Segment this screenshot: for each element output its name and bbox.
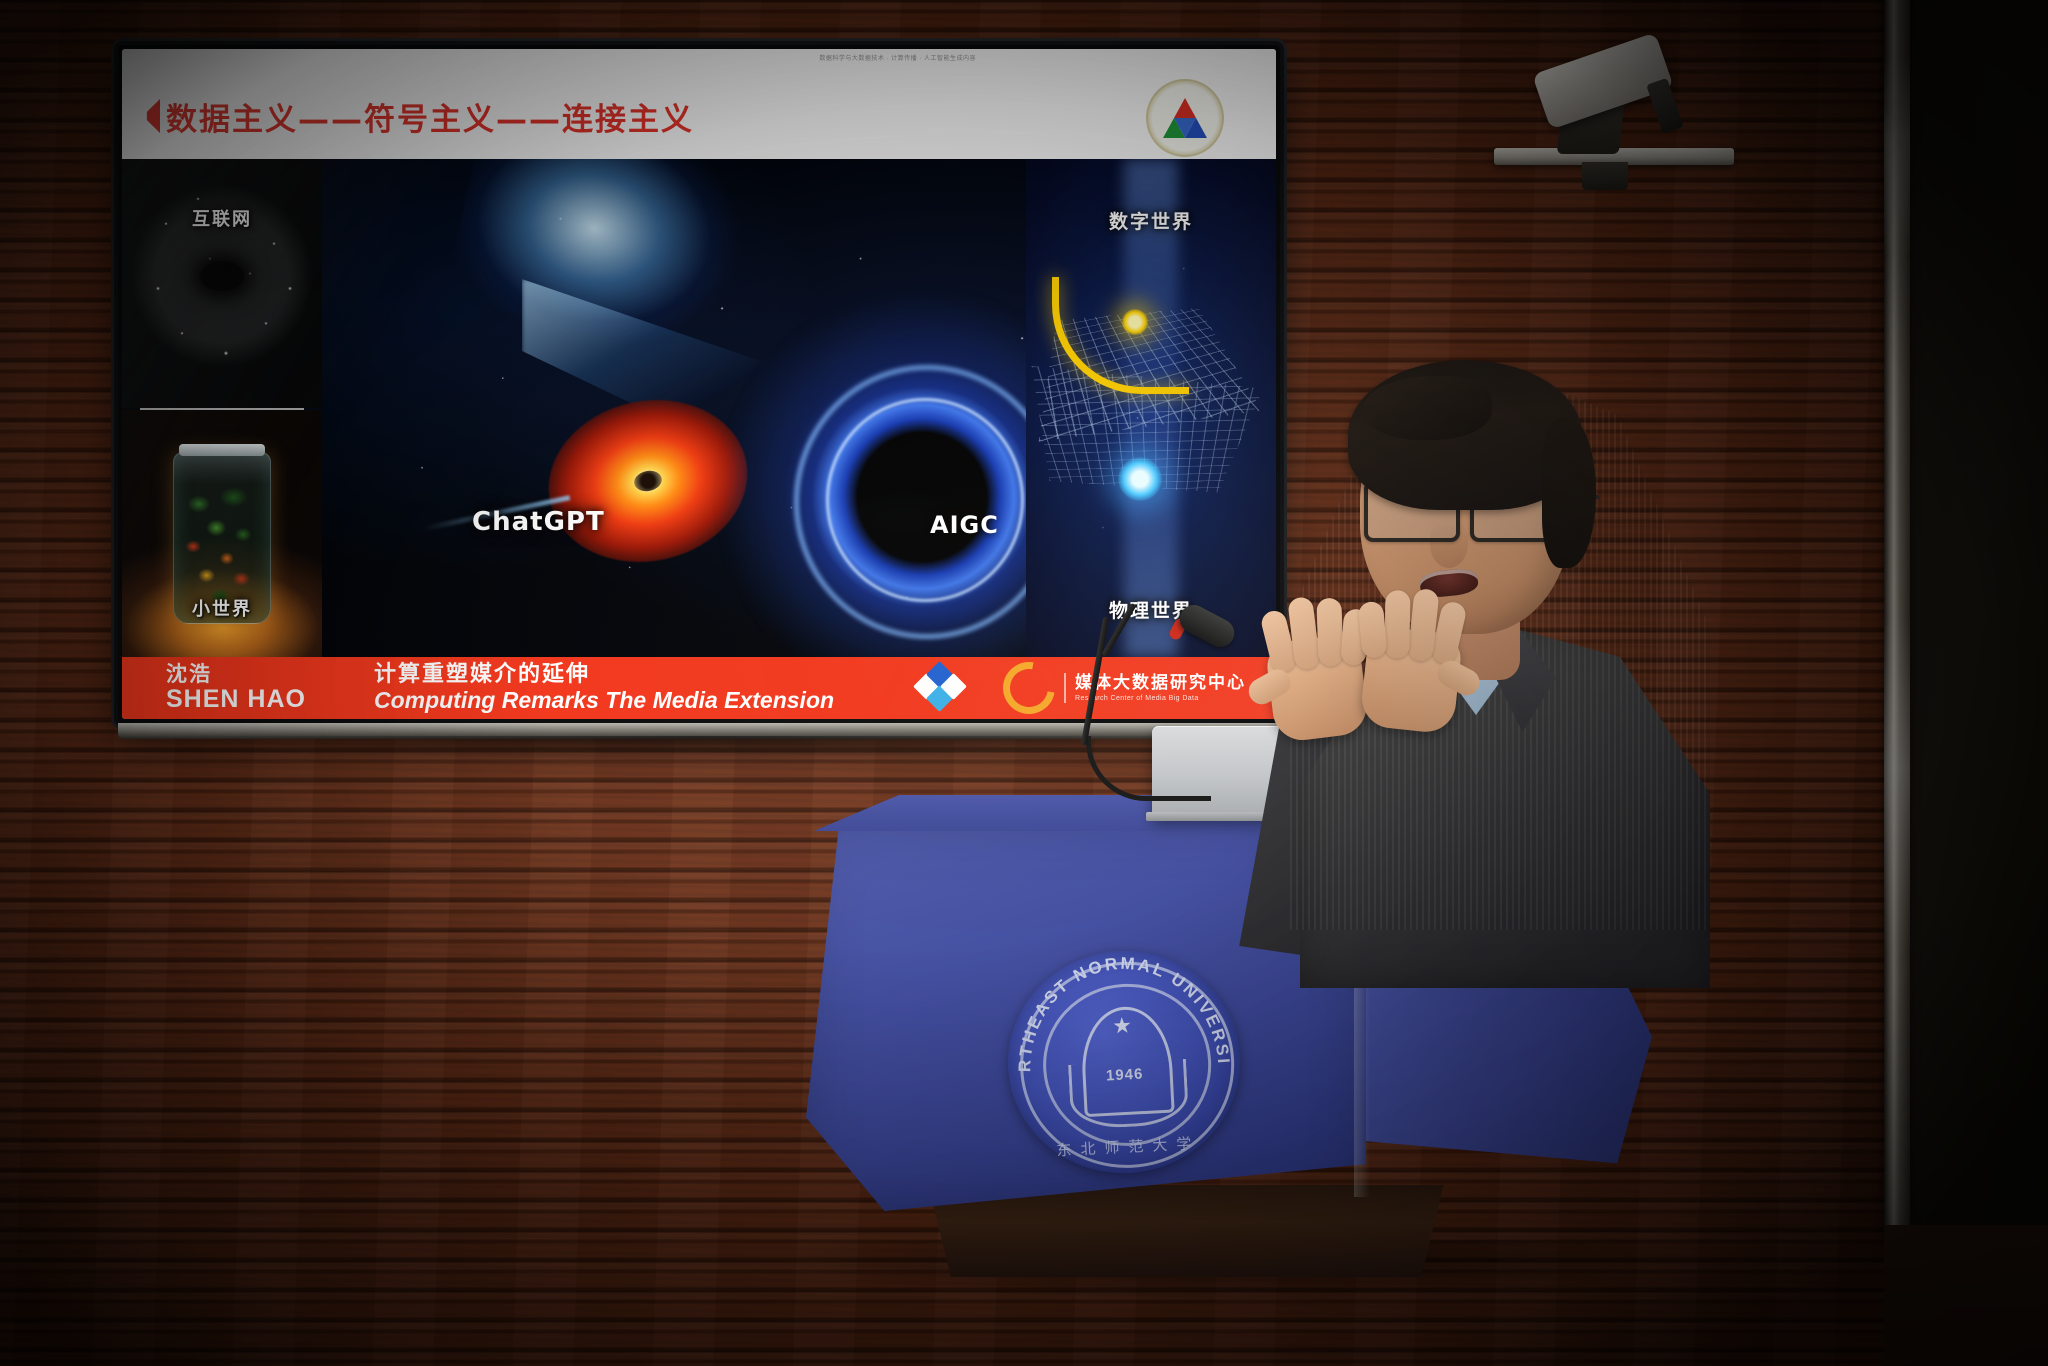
trim-highlight-lower (1884, 616, 1910, 956)
slide-tiny-note: 数据科学与大数据技术 · 计算传播 · 人工智能生成内容 (819, 53, 976, 62)
slide-footer-bar: 沈浩 SHEN HAO 计算重塑媒介的延伸 Computing Remarks … (122, 657, 1276, 719)
talk-topic-en: Computing Remarks The Media Extension (374, 688, 834, 712)
slide-top-strip: 数据科学与大数据技术 · 计算传播 · 人工智能生成内容 (122, 49, 1276, 73)
university-logo-icon (1146, 79, 1224, 157)
logo-divider (1064, 673, 1066, 703)
door-metal-trim (1884, 0, 1910, 1246)
terrarium-lid (179, 444, 265, 456)
internet-network-image: 互联网 (122, 159, 322, 408)
slide-header: 数据主义——符号主义——连接主义 (122, 73, 1276, 159)
slide-center-column: ChatGPT AIGC (322, 159, 1026, 657)
footer-logo-group: 媒体大数据研究中心 Research Center of Media Big D… (915, 657, 1246, 719)
ceiling-camera-icon (1520, 40, 1700, 180)
finger-little (1358, 601, 1388, 659)
slide-left-column: 互联网 小世界 (122, 159, 322, 657)
network-core (200, 261, 244, 291)
emblem-year: 1946 (1106, 1066, 1144, 1085)
camera-lens-icon (1646, 78, 1684, 134)
slide-title: 数据主义——符号主义——连接主义 (166, 94, 694, 139)
slide-artwork: 互联网 小世界 (122, 159, 1276, 657)
wormhole-image (762, 332, 1026, 657)
speaker-hair-side (1542, 418, 1596, 568)
dark-door-panel (1908, 0, 2048, 1236)
small-world-image: 小世界 (122, 410, 322, 657)
diamond-logo-icon (915, 663, 969, 713)
wormhole-ring-inner (826, 398, 1024, 602)
cyan-node (1118, 457, 1162, 501)
speaker-name-block: 沈浩 SHEN HAO (166, 664, 306, 712)
finger-ring (1316, 598, 1343, 667)
bullet-marker-icon (144, 99, 160, 133)
label-digital-world: 数字世界 (1026, 207, 1276, 234)
research-center-text: 媒体大数据研究中心 Research Center of Media Big D… (1075, 675, 1246, 702)
label-aigc: AIGC (930, 511, 999, 539)
label-small-world: 小世界 (122, 595, 322, 621)
finger-ring (1384, 590, 1410, 658)
orange-ring-icon (993, 657, 1065, 719)
talk-topic-block: 计算重塑媒介的延伸 Computing Remarks The Media Ex… (374, 663, 834, 712)
triangle-center (1174, 118, 1196, 138)
lecture-photograph: 数据科学与大数据技术 · 计算传播 · 人工智能生成内容 数据主义——符号主义—… (0, 0, 2048, 1366)
tricolor-triangle-icon (1163, 98, 1207, 138)
speaker-hair-front (1362, 376, 1492, 440)
emblem-star-icon: ★ (1112, 1015, 1133, 1038)
label-physical-world: 物理世界 (1026, 596, 1276, 623)
display-drop-shadow (180, 736, 1220, 758)
trim-highlight (1884, 56, 1910, 256)
speaker-name-cn: 沈浩 (166, 664, 306, 685)
slide-right-column: 数字世界 物理世界 (1026, 159, 1276, 657)
university-emblem: NORTHEAST NORMAL UNIVERSITY ★ 1946 东北师范大… (1002, 945, 1245, 1179)
research-center-cn: 媒体大数据研究中心 (1075, 675, 1246, 692)
research-center-logo: 媒体大数据研究中心 Research Center of Media Big D… (1003, 662, 1246, 714)
yellow-node (1122, 309, 1148, 335)
label-internet: 互联网 (122, 205, 322, 231)
talk-topic-cn: 计算重塑媒介的延伸 (374, 663, 834, 686)
door-base-shadow (1884, 1225, 2048, 1366)
triangle-red (1174, 98, 1196, 118)
camera-foot (1582, 162, 1628, 190)
speaker-name-en: SHEN HAO (166, 687, 306, 712)
research-center-en: Research Center of Media Big Data (1075, 695, 1246, 702)
label-chatgpt: ChatGPT (472, 507, 605, 537)
speaker-hand-right (1345, 582, 1478, 742)
